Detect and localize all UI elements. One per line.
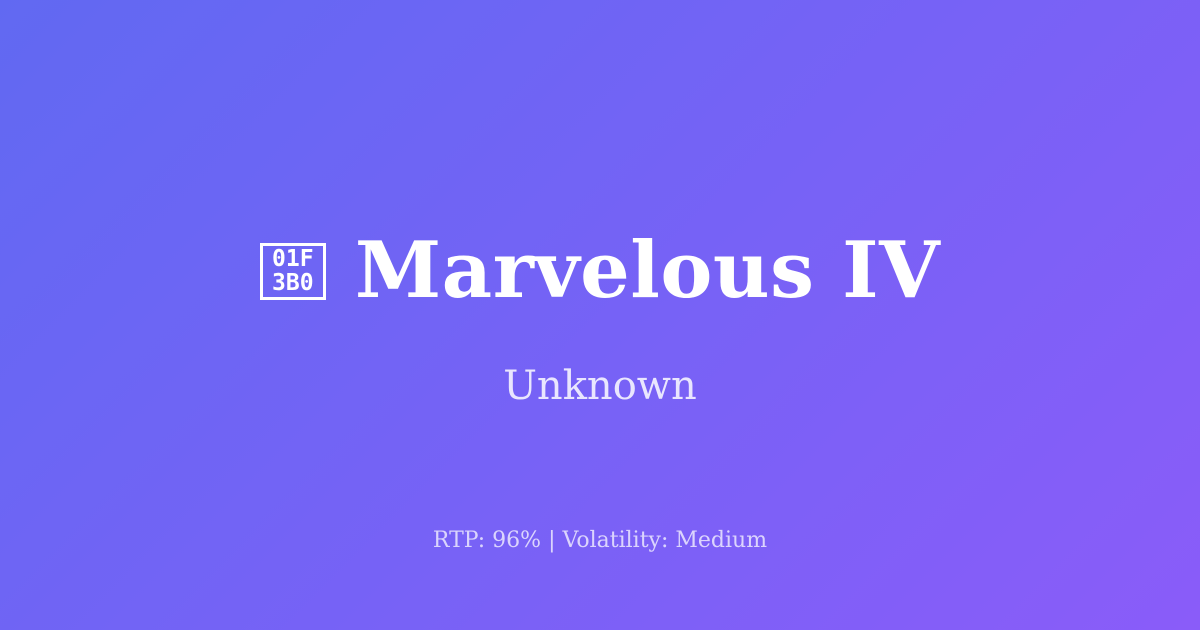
- title-row: 01F 3B0 Marvelous IV: [0, 232, 1200, 310]
- page-title: Marvelous IV: [355, 232, 940, 310]
- tofu-hex-bottom: 3B0: [272, 271, 314, 295]
- slot-machine-icon: 01F 3B0: [260, 243, 326, 300]
- provider-subtitle: Unknown: [0, 364, 1200, 408]
- tofu-hex-top: 01F: [272, 247, 314, 271]
- game-stats-line: RTP: 96% | Volatility: Medium: [0, 528, 1200, 554]
- og-share-card: 01F 3B0 Marvelous IV Unknown RTP: 96% | …: [0, 0, 1200, 630]
